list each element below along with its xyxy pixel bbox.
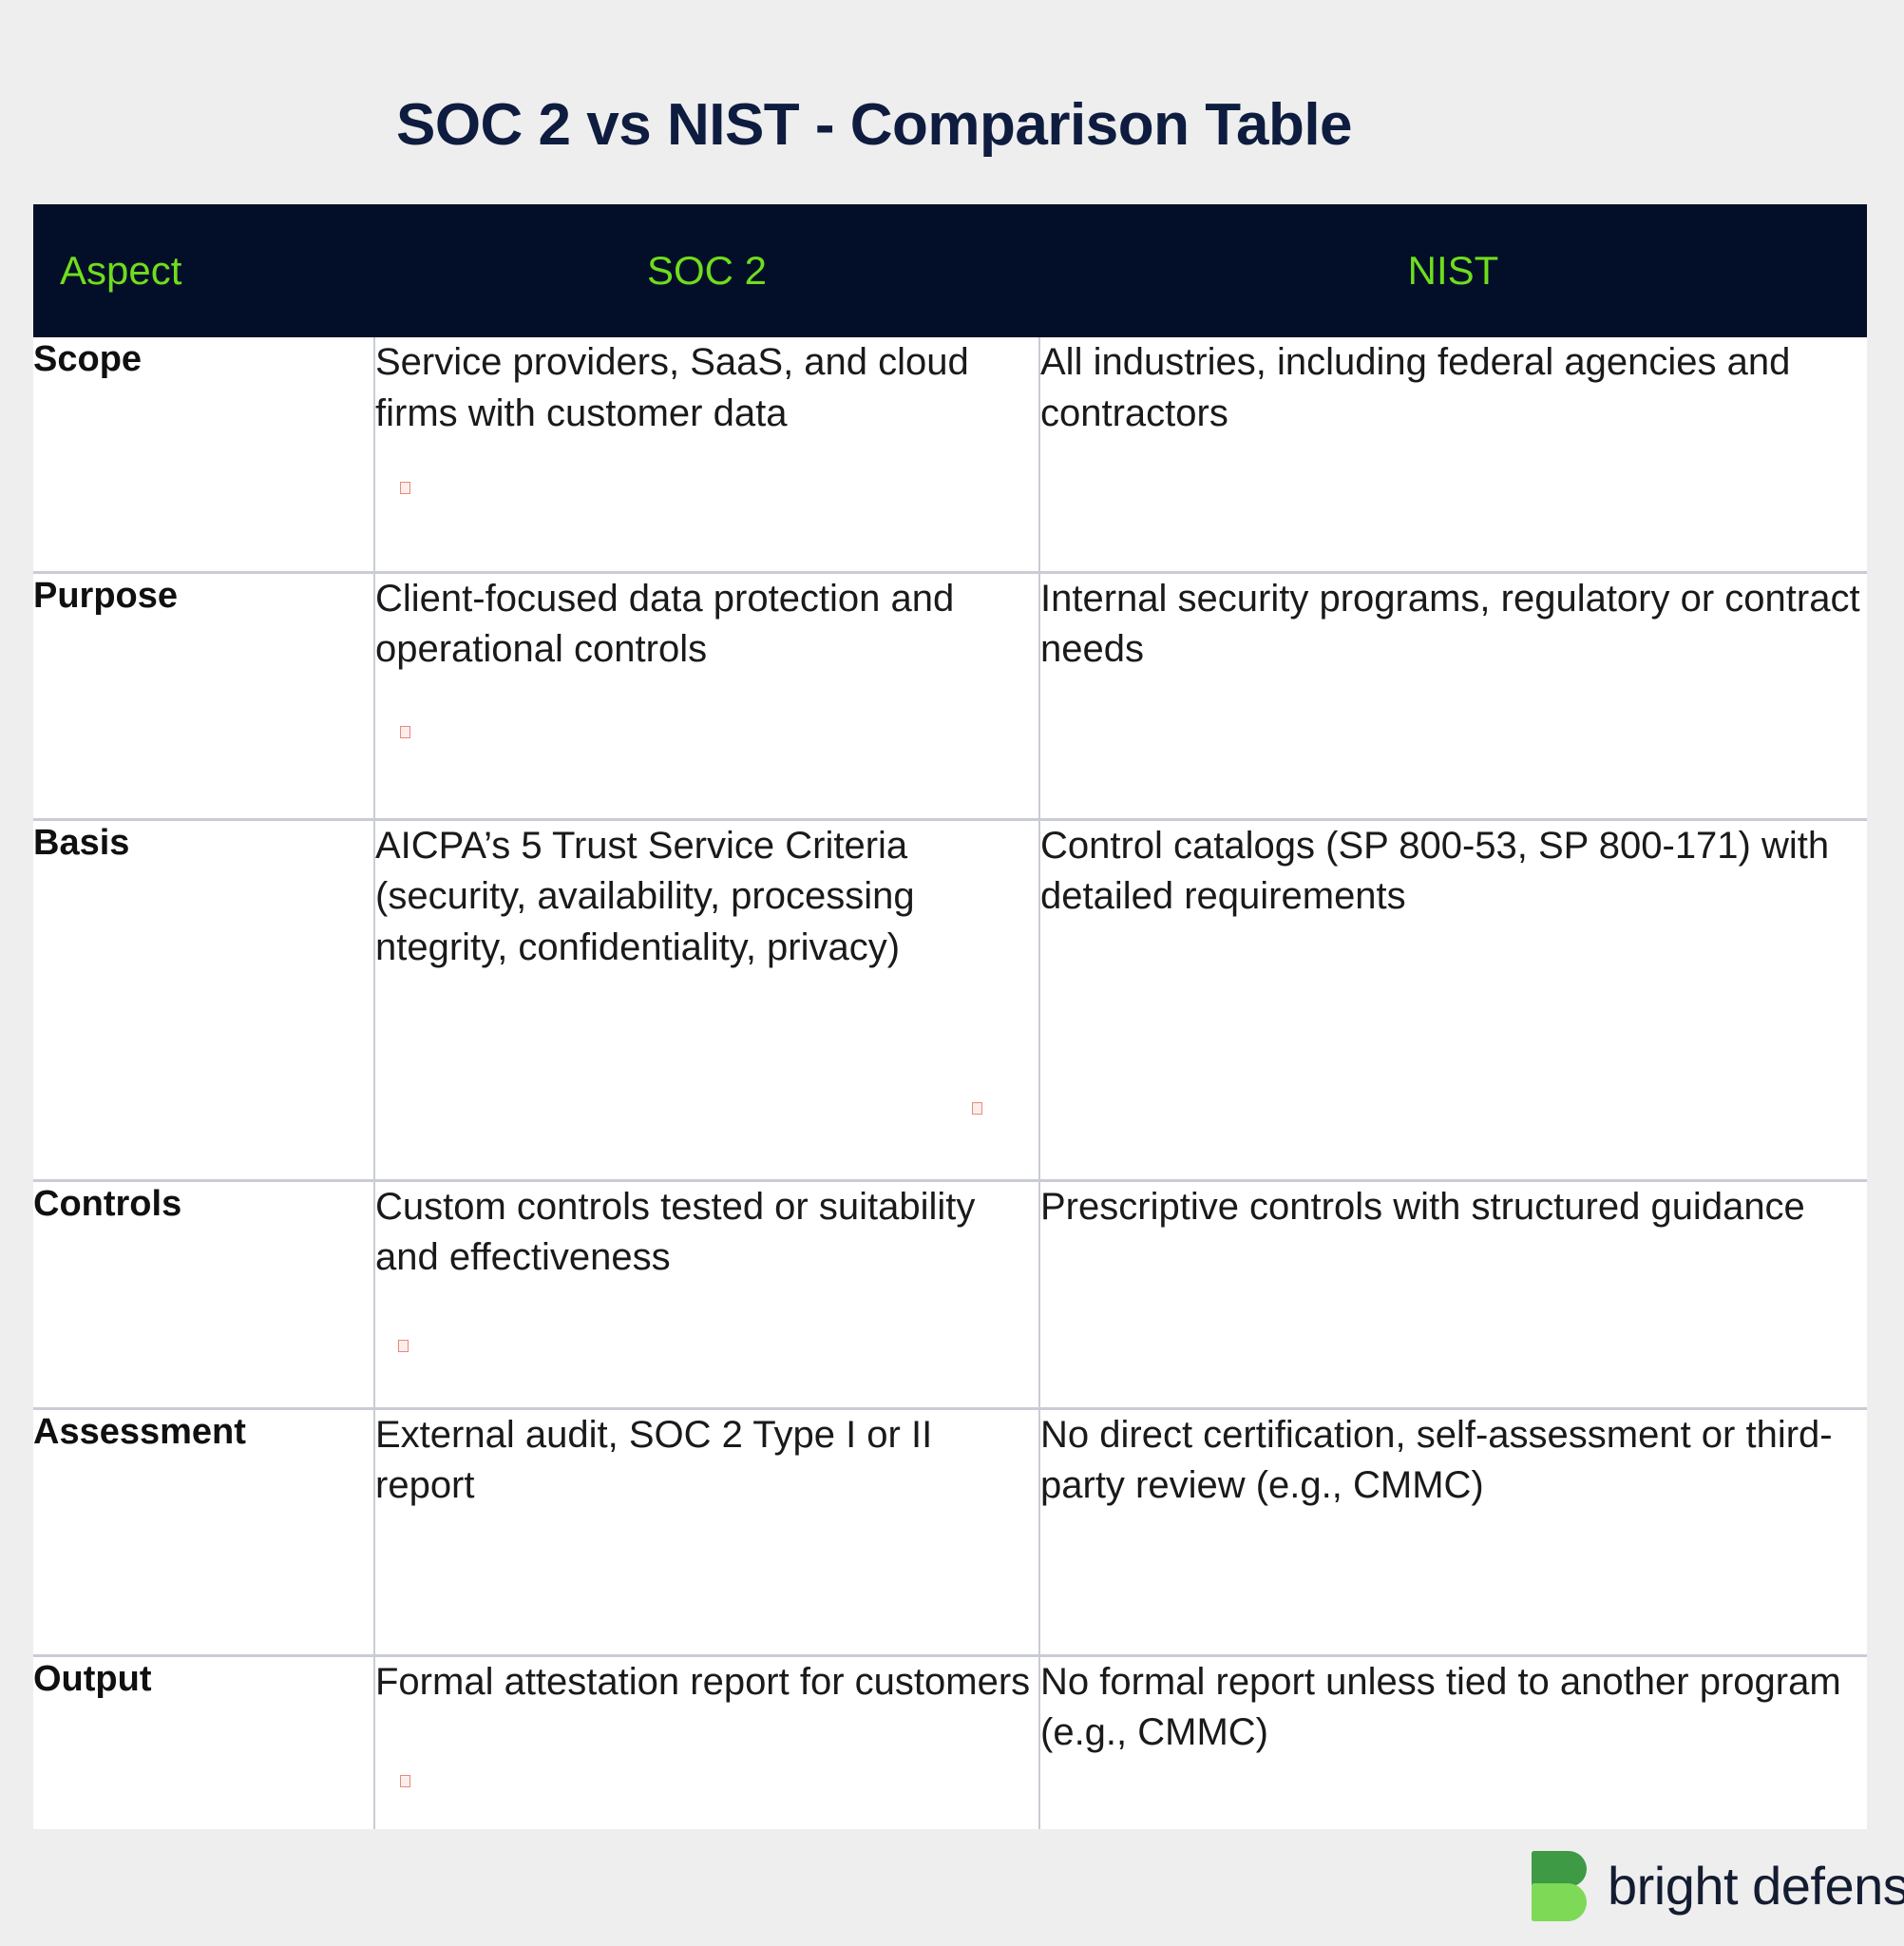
column-header-soc2: SOC 2 — [374, 204, 1039, 337]
cell-text: Service providers, SaaS, and cloud firms… — [375, 341, 969, 434]
cell-soc2-scope: Service providers, SaaS, and cloud firms… — [374, 337, 1039, 572]
comment-anchor-icon — [400, 726, 410, 738]
cell-text: Custom controls tested or suitability an… — [375, 1186, 975, 1279]
cell-nist-scope: All industries, including federal agenci… — [1039, 337, 1867, 572]
cell-text: AICPA’s 5 Trust Service Criteria (securi… — [375, 825, 915, 968]
cell-soc2-controls: Custom controls tested or suitability an… — [374, 1180, 1039, 1408]
cell-aspect-output: Output — [33, 1655, 374, 1829]
comment-anchor-icon — [398, 1340, 409, 1352]
table-body: Scope Service providers, SaaS, and cloud… — [33, 337, 1867, 1829]
table-row: Purpose Client-focused data protection a… — [33, 572, 1867, 819]
table-row: Basis AICPA’s 5 Trust Service Criteria (… — [33, 819, 1867, 1180]
table-row: Scope Service providers, SaaS, and cloud… — [33, 337, 1867, 572]
cell-nist-controls: Prescriptive controls with structured gu… — [1039, 1180, 1867, 1408]
cell-aspect-assessment: Assessment — [33, 1408, 374, 1655]
cell-soc2-assessment: External audit, SOC 2 Type I or II repor… — [374, 1408, 1039, 1655]
column-header-aspect: Aspect — [33, 204, 374, 337]
cell-nist-assessment: No direct certification, self-assessment… — [1039, 1408, 1867, 1655]
column-header-nist: NIST — [1039, 204, 1867, 337]
comment-anchor-icon — [972, 1102, 982, 1115]
cell-text: Formal attestation report for customers — [375, 1661, 1030, 1703]
cell-nist-output: No formal report unless tied to another … — [1039, 1655, 1867, 1829]
brand-wordmark: bright defense — [1608, 1860, 1904, 1913]
cell-soc2-basis: AICPA’s 5 Trust Service Criteria (securi… — [374, 819, 1039, 1180]
cell-soc2-purpose: Client-focused data protection and opera… — [374, 572, 1039, 819]
cell-soc2-output: Formal attestation report for customers — [374, 1655, 1039, 1829]
table-header: Aspect SOC 2 NIST — [33, 204, 1867, 337]
table-header-row: Aspect SOC 2 NIST — [33, 204, 1867, 337]
page-title: SOC 2 vs NIST - Comparison Table — [0, 93, 1748, 158]
cell-aspect-purpose: Purpose — [33, 572, 374, 819]
table-row: Assessment External audit, SOC 2 Type I … — [33, 1408, 1867, 1655]
cell-text: Client-focused data protection and opera… — [375, 578, 954, 671]
brand-logo: bright defense — [1532, 1851, 1904, 1921]
comment-anchor-icon — [400, 1775, 410, 1787]
cell-aspect-scope: Scope — [33, 337, 374, 572]
cell-nist-basis: Control catalogs (SP 800-53, SP 800-171)… — [1039, 819, 1867, 1180]
bright-defense-b-mark-icon — [1532, 1851, 1587, 1921]
cell-aspect-basis: Basis — [33, 819, 374, 1180]
cell-aspect-controls: Controls — [33, 1180, 374, 1408]
table-row: Controls Custom controls tested or suita… — [33, 1180, 1867, 1408]
comparison-table: Aspect SOC 2 NIST Scope Service provider… — [33, 204, 1867, 1829]
cell-nist-purpose: Internal security programs, regulatory o… — [1039, 572, 1867, 819]
comment-anchor-icon — [400, 482, 410, 494]
table-row: Output Formal attestation report for cus… — [33, 1655, 1867, 1829]
